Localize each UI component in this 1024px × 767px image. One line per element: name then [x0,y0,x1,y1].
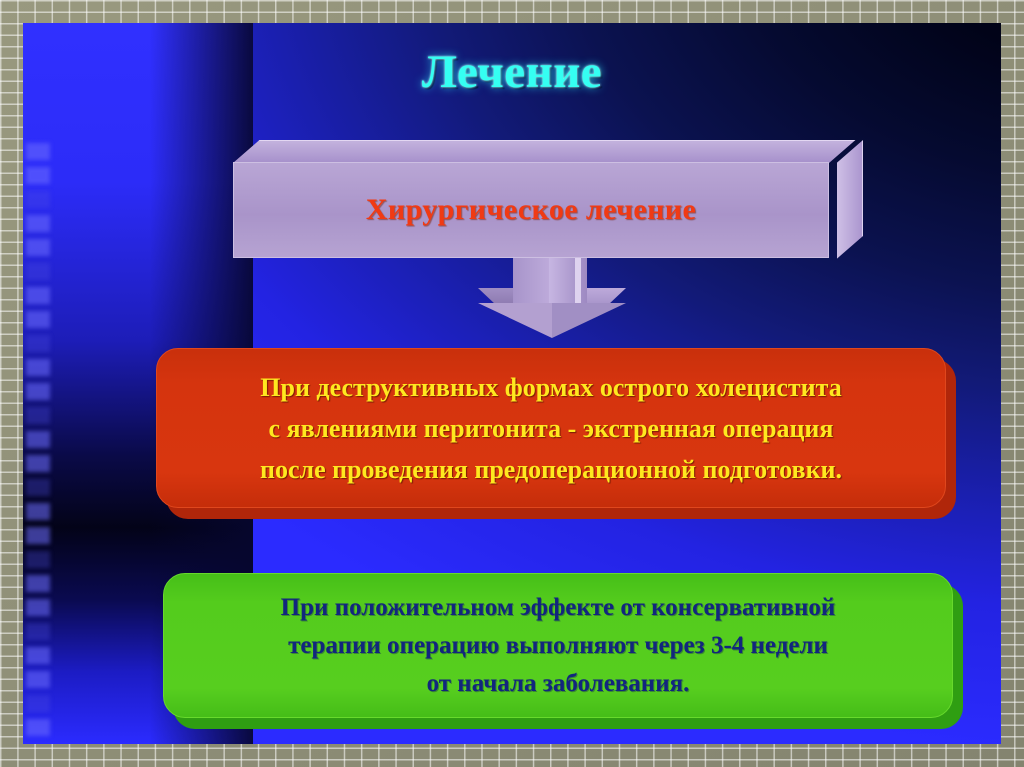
film-perforation [26,287,50,304]
film-perforation [26,311,50,328]
box-top-bevel [233,140,855,163]
film-perforation [26,647,50,664]
film-perforation [26,599,50,616]
film-perforation [26,455,50,472]
down-arrow-icon [478,258,626,338]
film-perforation [26,719,50,736]
film-perforation [26,263,50,280]
emergency-surgery-panel: При деструктивных формах острого холецис… [156,348,946,508]
panel-text-line: При деструктивных формах острого холецис… [174,367,928,408]
delayed-surgery-panel: При положительном эффекте от консерватив… [163,573,953,718]
arrow-shaft-highlight [575,258,581,305]
panel-text-line: с явлениями перитонита - экстренная опер… [174,408,928,449]
arrow-shaft-left [513,258,549,305]
film-perforation [26,575,50,592]
panel-text-line: от начала заболевания. [181,665,935,703]
panel-text-line: терапии операцию выполняют через 3-4 нед… [181,627,935,665]
slide-canvas: Лечение Хирургическое лечение При дестру… [23,23,1001,744]
film-perforation [26,215,50,232]
film-strip-decoration [23,23,75,744]
box-side-bevel [837,140,863,259]
film-perforation [26,407,50,424]
panel-text-line: после проведения предоперационной подгот… [174,449,928,490]
film-perforation [26,623,50,640]
film-perforation [26,431,50,448]
film-perforation [26,383,50,400]
film-perforation [26,335,50,352]
page-title: Лечение [23,45,1001,99]
film-perforation [26,551,50,568]
box-face: Хирургическое лечение [233,162,829,258]
film-perforation [26,695,50,712]
film-perforation [26,671,50,688]
film-perforation [26,167,50,184]
panel-text: При положительном эффекте от консерватив… [163,589,953,703]
film-perforation [26,143,50,160]
panel-text-line: При положительном эффекте от консерватив… [181,589,935,627]
film-perforation [26,239,50,256]
arrow-shaft-right [549,258,587,305]
panel-text: При деструктивных формах острого холецис… [156,367,946,490]
surgical-treatment-label: Хирургическое лечение [366,193,696,227]
surgical-treatment-box: Хирургическое лечение [233,140,863,258]
film-perforation [26,527,50,544]
film-perforation [26,191,50,208]
arrow-head [478,303,626,338]
film-perforation [26,479,50,496]
film-perforation [26,359,50,376]
film-perforation [26,503,50,520]
slide-frame: Лечение Хирургическое лечение При дестру… [0,0,1024,767]
